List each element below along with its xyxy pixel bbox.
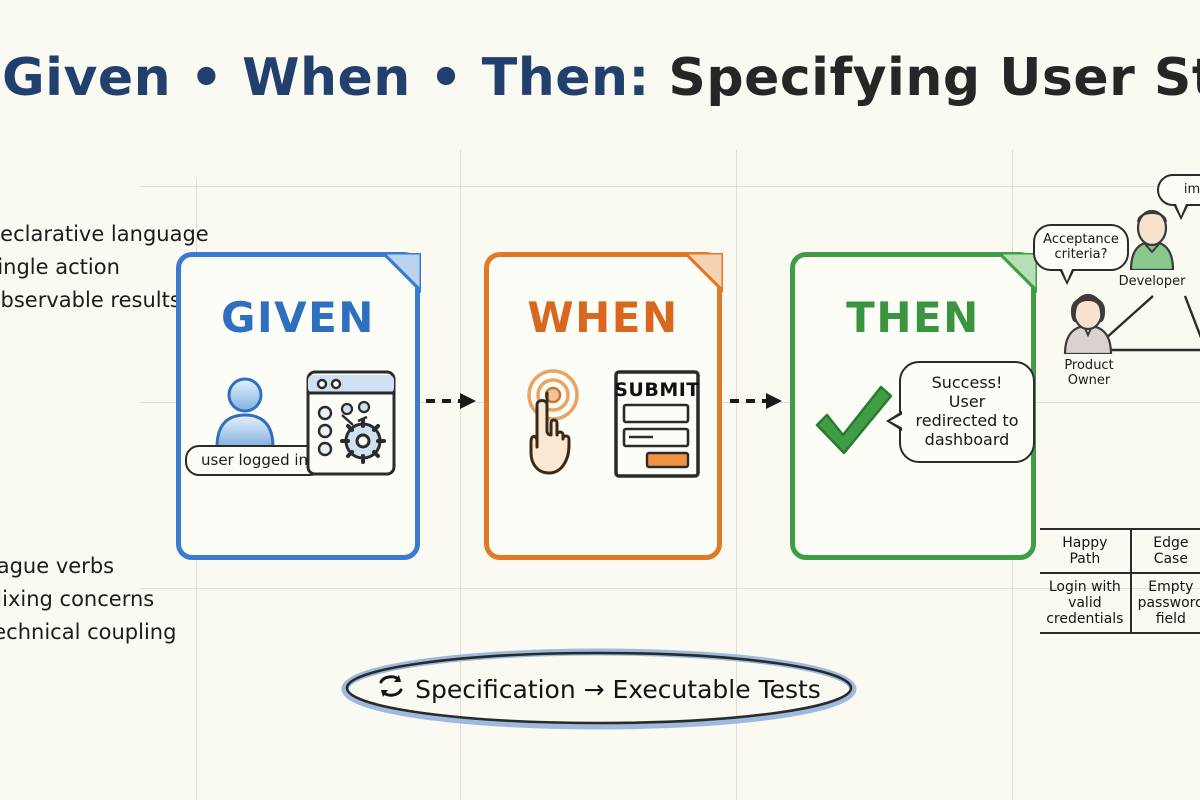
arrow-when-to-then (728, 388, 788, 418)
page-title-rest: Specifying User Story Behavior (650, 48, 1200, 108)
acceptance-bubble-line-2: criteria? (1043, 247, 1119, 262)
note-vague-verbs: Vague verbs (0, 550, 176, 583)
cell-edge-case-example: Empty password field (1131, 573, 1200, 633)
note-declarative-language: Declarative language (0, 218, 209, 251)
developer-speech-bubble: im (1157, 174, 1200, 206)
spec-to-tests-label: Specification → Executable Tests (340, 648, 858, 730)
edge-cell-line-1: Empty (1136, 579, 1200, 595)
happy-cell-line-2: valid (1044, 595, 1126, 611)
scenario-table: Happy Path Edge Case Login with valid cr… (1040, 528, 1200, 634)
table-row: Login with valid credentials Empty passw… (1040, 573, 1200, 633)
bubble-line-4: dashboard (909, 430, 1025, 449)
table-header-row: Happy Path Edge Case (1040, 529, 1200, 573)
note-technical-coupling: Technical coupling (0, 616, 176, 649)
po-label-line-2: Owner (1043, 373, 1135, 388)
acceptance-criteria-bubble: Acceptance criteria? (1033, 224, 1129, 271)
arrow-given-to-when (424, 388, 482, 418)
page-title-lead: Given • When • Then: (2, 48, 650, 108)
header-edge-case: Edge Case (1131, 529, 1200, 573)
browser-settings-icon (305, 369, 397, 481)
when-card-body: SUBMIT (489, 367, 717, 555)
product-owner-role-label: Product Owner (1043, 358, 1135, 388)
edge-case-line-1: Edge (1136, 535, 1200, 551)
bubble-line-1: Success! (909, 373, 1025, 392)
given-card-title: GIVEN (181, 293, 415, 342)
bubble-line-2: User (909, 392, 1025, 411)
then-card-body: Success! User redirected to dashboard (795, 367, 1031, 555)
edge-cell-line-2: password (1136, 595, 1200, 611)
submit-button-label: SUBMIT (613, 379, 701, 401)
page-title: Given • When • Then: Specifying User Sto… (2, 48, 1200, 108)
developer-role-label: Developer (1111, 274, 1193, 289)
cell-happy-path-example: Login with valid credentials (1040, 573, 1131, 633)
folded-corner-icon (995, 253, 1035, 293)
bubble-line-3: redirected to (909, 411, 1025, 430)
refresh-cycle-icon (377, 673, 405, 705)
folded-corner-icon (379, 253, 419, 293)
note-mixing-concerns: Mixing concerns (0, 583, 176, 616)
po-label-line-1: Product (1043, 358, 1135, 373)
edge-cell-line-3: field (1136, 611, 1200, 627)
user-logged-in-pill: user logged in (185, 445, 324, 476)
given-card-body: user logged in (181, 367, 415, 555)
whiteboard-canvas: Given • When • Then: Specifying User Sto… (0, 0, 1200, 800)
then-card[interactable]: THEN Success! User redirected to dashboa… (790, 252, 1036, 560)
then-card-title: THEN (795, 293, 1031, 342)
spec-to-tests-text: Specification → Executable Tests (415, 675, 821, 704)
stakeholders-cluster: Developer im Product Owner Acceptance cr… (1035, 178, 1200, 403)
given-card[interactable]: GIVEN user logged in (176, 252, 420, 560)
speech-bubble-tail (886, 411, 902, 431)
form-icon: SUBMIT (613, 369, 701, 483)
spec-to-tests-oval: Specification → Executable Tests (340, 648, 858, 730)
acceptance-bubble-line-1: Acceptance (1043, 232, 1119, 247)
when-card-title: WHEN (489, 293, 717, 342)
happy-path-line-2: Path (1044, 551, 1126, 567)
pointing-hand-icon (517, 369, 603, 485)
happy-cell-line-1: Login with (1044, 579, 1126, 595)
checkmark-icon (811, 383, 895, 469)
when-card[interactable]: WHEN SUBMIT (484, 252, 722, 560)
header-happy-path: Happy Path (1040, 529, 1131, 573)
antipattern-notes: Vague verbs Mixing concerns Technical co… (0, 550, 176, 649)
folded-corner-icon (681, 253, 721, 293)
developer-bubble-text: im (1167, 182, 1200, 197)
speech-bubble-tail (1173, 204, 1189, 220)
speech-bubble-tail (1059, 269, 1075, 285)
success-speech-bubble: Success! User redirected to dashboard (899, 361, 1035, 463)
user-icon (209, 375, 281, 453)
product-owner-avatar (1057, 288, 1119, 358)
edge-case-line-2: Case (1136, 551, 1200, 567)
happy-path-line-1: Happy (1044, 535, 1126, 551)
happy-cell-line-3: credentials (1044, 611, 1126, 627)
